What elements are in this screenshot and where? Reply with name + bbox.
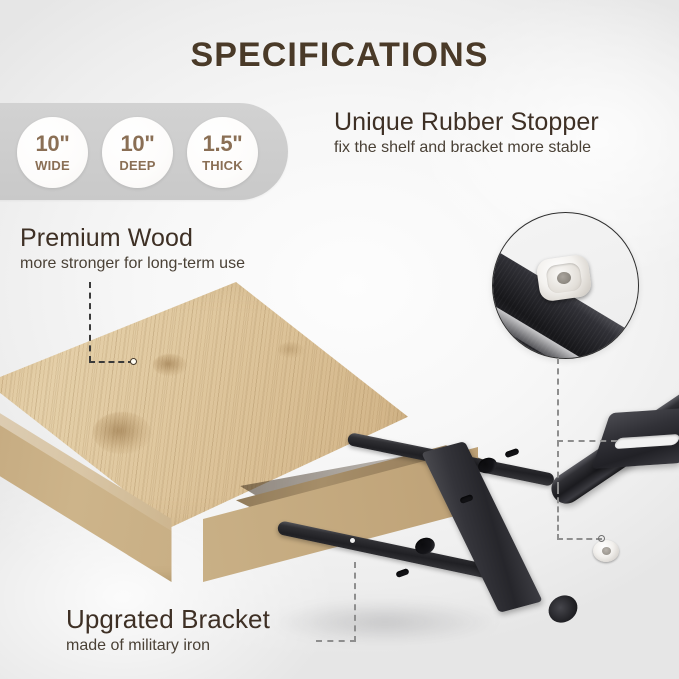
callout-subtext: made of military iron bbox=[66, 637, 270, 655]
callout-heading: Unique Rubber Stopper bbox=[334, 108, 599, 137]
badge-number: 10" bbox=[120, 133, 154, 155]
specifications-infographic: SPECIFICATIONS 10" WIDE 10" DEEP 1.5" TH… bbox=[0, 0, 679, 679]
leader-line-stopper-vertical-2 bbox=[557, 488, 559, 540]
dimension-badge-wide: 10" WIDE bbox=[17, 117, 88, 188]
rubber-stopper-zoom-callout bbox=[492, 212, 639, 359]
bracket-screw-slot bbox=[395, 568, 409, 578]
leader-line-stopper-horizontal bbox=[557, 538, 602, 540]
callout-heading: Upgrated Bracket bbox=[66, 604, 270, 635]
badge-unit: WIDE bbox=[35, 159, 70, 172]
badge-unit: DEEP bbox=[119, 159, 155, 172]
wood-knot bbox=[153, 354, 187, 376]
badge-number: 10" bbox=[35, 133, 69, 155]
bracket-screw-slot bbox=[504, 448, 519, 458]
dimension-badge-group: 10" WIDE 10" DEEP 1.5" THICK bbox=[17, 117, 258, 188]
callout-rubber-stopper: Unique Rubber Stopper fix the shelf and … bbox=[334, 108, 599, 157]
callout-subtext: more stronger for long-term use bbox=[20, 255, 245, 273]
rubber-stopper bbox=[593, 540, 619, 562]
zoom-rubber-stopper bbox=[535, 254, 592, 303]
page-title: SPECIFICATIONS bbox=[0, 36, 679, 75]
bracket-screw-dot bbox=[350, 538, 355, 543]
wood-knot bbox=[93, 412, 151, 454]
leader-line-stopper-vertical bbox=[557, 358, 559, 488]
dimension-badge-thick: 1.5" THICK bbox=[187, 117, 258, 188]
callout-heading: Premium Wood bbox=[20, 224, 245, 253]
leader-line-wood-horizontal bbox=[89, 361, 134, 363]
dimension-badge-deep: 10" DEEP bbox=[102, 117, 173, 188]
leader-line-bracket-vertical bbox=[354, 562, 356, 642]
badge-number: 1.5" bbox=[203, 133, 243, 155]
callout-subtext: fix the shelf and bracket more stable bbox=[334, 139, 599, 157]
badge-unit: THICK bbox=[202, 159, 243, 172]
leader-line-wood-vertical bbox=[89, 282, 91, 362]
wood-knot bbox=[278, 342, 304, 358]
leader-dot-wood bbox=[130, 358, 137, 365]
callout-premium-wood: Premium Wood more stronger for long-term… bbox=[20, 224, 245, 273]
leader-line-plate-horizontal bbox=[557, 440, 617, 442]
leader-dot-stopper bbox=[598, 535, 605, 542]
leader-line-bracket-horizontal bbox=[316, 640, 356, 642]
callout-upgraded-bracket: Upgrated Bracket made of military iron bbox=[66, 604, 270, 655]
side-bracket-illustration bbox=[560, 400, 679, 660]
